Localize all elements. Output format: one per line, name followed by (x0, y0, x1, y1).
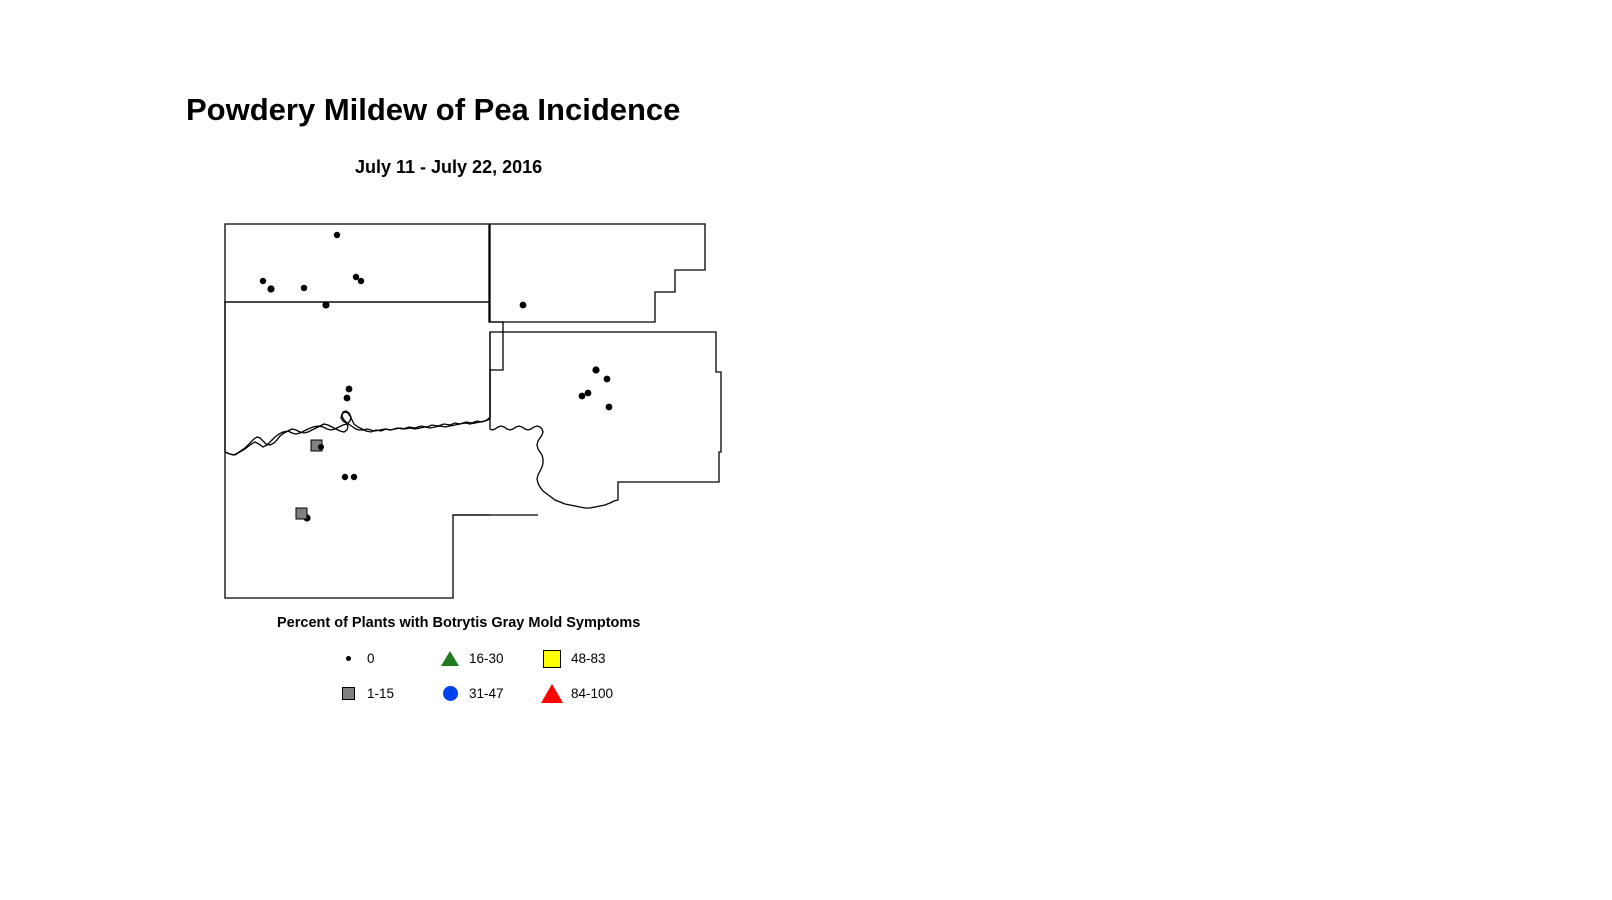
legend-item-1-15: 1-15 (337, 683, 439, 705)
county-southwest-bottom (225, 452, 490, 598)
data-point (351, 474, 357, 480)
data-point (344, 395, 351, 402)
data-point (606, 404, 613, 411)
legend-item-31-47: 31-47 (439, 683, 541, 705)
data-point (346, 386, 353, 393)
data-point (301, 285, 307, 291)
data-point (592, 366, 599, 373)
blue-circle-icon (439, 683, 461, 705)
county-southeast (490, 332, 721, 508)
data-point (303, 514, 310, 521)
figure-root: Powdery Mildew of Pea Incidence July 11 … (0, 0, 1612, 900)
legend-label: 31-47 (469, 686, 504, 701)
data-point (579, 393, 586, 400)
legend-item-0: 0 (337, 648, 439, 670)
legend-item-84-100: 84-100 (541, 683, 643, 705)
small-dot-icon (337, 648, 359, 670)
data-point-gray-square (311, 440, 322, 451)
legend-label: 48-83 (571, 651, 606, 666)
legend: 0 16-30 48-83 1-15 (337, 641, 677, 711)
data-point-gray-square (296, 508, 307, 519)
legend-item-16-30: 16-30 (439, 648, 541, 670)
data-point (318, 444, 324, 450)
data-points (260, 232, 613, 522)
data-point (353, 274, 359, 280)
data-point (334, 232, 340, 238)
red-triangle-icon (541, 683, 563, 705)
data-point (358, 278, 364, 284)
county-northwest (225, 224, 489, 302)
date-range-subtitle: July 11 - July 22, 2016 (355, 157, 542, 178)
page-title: Powdery Mildew of Pea Incidence (186, 92, 680, 128)
legend-label: 1-15 (367, 686, 394, 701)
data-point (585, 390, 592, 397)
data-point (604, 376, 611, 383)
legend-label: 84-100 (571, 686, 613, 701)
county-northeast (490, 224, 705, 322)
legend-row-bottom: 1-15 31-47 84-100 (337, 676, 677, 711)
river-boundary-west (225, 411, 490, 455)
data-point (322, 301, 329, 308)
gray-square-icon (337, 683, 359, 705)
legend-label: 0 (367, 651, 375, 666)
county-boundaries (225, 224, 721, 598)
data-point (267, 285, 274, 292)
legend-item-48-83: 48-83 (541, 648, 643, 670)
county-southwest (225, 302, 503, 455)
data-point (520, 302, 527, 309)
legend-row-top: 0 16-30 48-83 (337, 641, 677, 676)
legend-label: 16-30 (469, 651, 504, 666)
data-point (342, 474, 348, 480)
green-triangle-icon (439, 648, 461, 670)
yellow-square-icon (541, 648, 563, 670)
county-map (0, 0, 1612, 900)
data-point (260, 278, 266, 284)
legend-title: Percent of Plants with Botrytis Gray Mol… (277, 615, 640, 631)
